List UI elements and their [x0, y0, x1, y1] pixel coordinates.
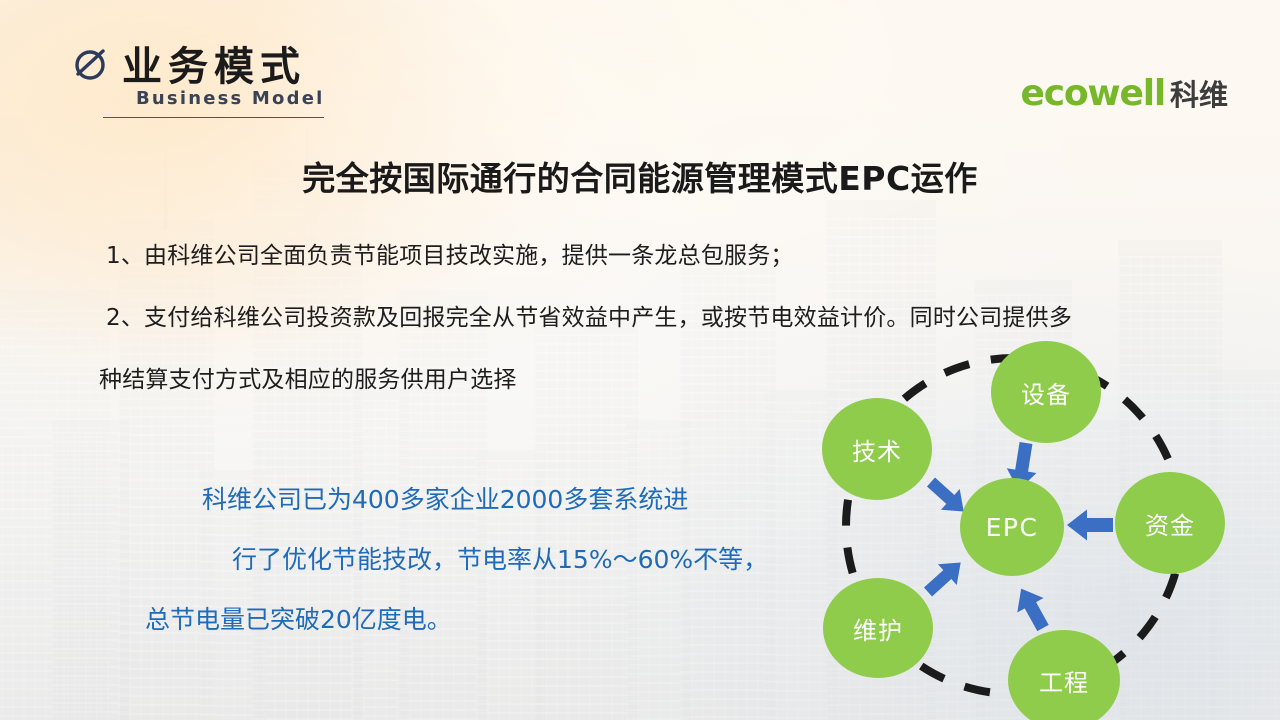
bullet-item-2: 2、支付给科维公司投资款及回报完全从节省效益中产生，或按节电效益计价。同时公司提… — [106, 298, 1072, 332]
node-label: 工程 — [1039, 663, 1089, 698]
bullet-item-2-continued: 种结算支付方式及相应的服务供用户选择 — [99, 360, 517, 394]
diagram-node-engineering[interactable]: 工程 — [1008, 630, 1120, 720]
arrow-maint-to-epc — [919, 552, 970, 602]
diagram-node-epc-center[interactable]: EPC — [960, 478, 1064, 576]
node-label: 维护 — [853, 611, 903, 646]
diagram-node-equipment[interactable]: 设备 — [991, 341, 1101, 443]
arrow-eng-to-epc — [1008, 581, 1056, 635]
bullet-item-1: 1、由科维公司全面负责节能项目技改实施，提供一条龙总包服务； — [106, 236, 794, 270]
arrow-fund-to-epc — [1067, 510, 1113, 541]
highlight-line: 总节电量已突破20亿度电。 — [0, 590, 720, 650]
logo-brand-text: ecowell — [1021, 76, 1165, 112]
diagram-node-tech[interactable]: 技术 — [822, 398, 932, 500]
highlight-text-block: 科维公司已为400多家企业2000多套系统进 行了优化节能技改，节电率从15%～… — [0, 470, 720, 650]
highlight-line: 行了优化节能技改，节电率从15%～60%不等， — [0, 530, 720, 590]
node-label: 资金 — [1145, 506, 1195, 541]
slide: 业务模式 Business Model ecowell 科维 完全按国际通行的合… — [0, 0, 1280, 720]
page-title: 业务模式 — [122, 34, 306, 92]
node-label: 设备 — [1021, 375, 1071, 410]
main-heading: 完全按国际通行的合同能源管理模式EPC运作 — [0, 152, 1280, 200]
node-label: EPC — [986, 513, 1039, 542]
slashed-circle-icon — [68, 40, 112, 84]
diagram-node-maintenance[interactable]: 维护 — [823, 578, 933, 678]
header-divider — [103, 117, 324, 118]
epc-cycle-diagram: 技术 设备 资金 工程 维护 EPC — [795, 330, 1235, 720]
page-subtitle: Business Model — [136, 88, 324, 109]
diagram-node-funding[interactable]: 资金 — [1115, 472, 1225, 574]
highlight-line: 科维公司已为400多家企业2000多套系统进 — [0, 470, 720, 530]
node-label: 技术 — [852, 432, 902, 467]
company-logo: ecowell 科维 — [1021, 76, 1228, 112]
logo-chinese-text: 科维 — [1170, 81, 1228, 110]
